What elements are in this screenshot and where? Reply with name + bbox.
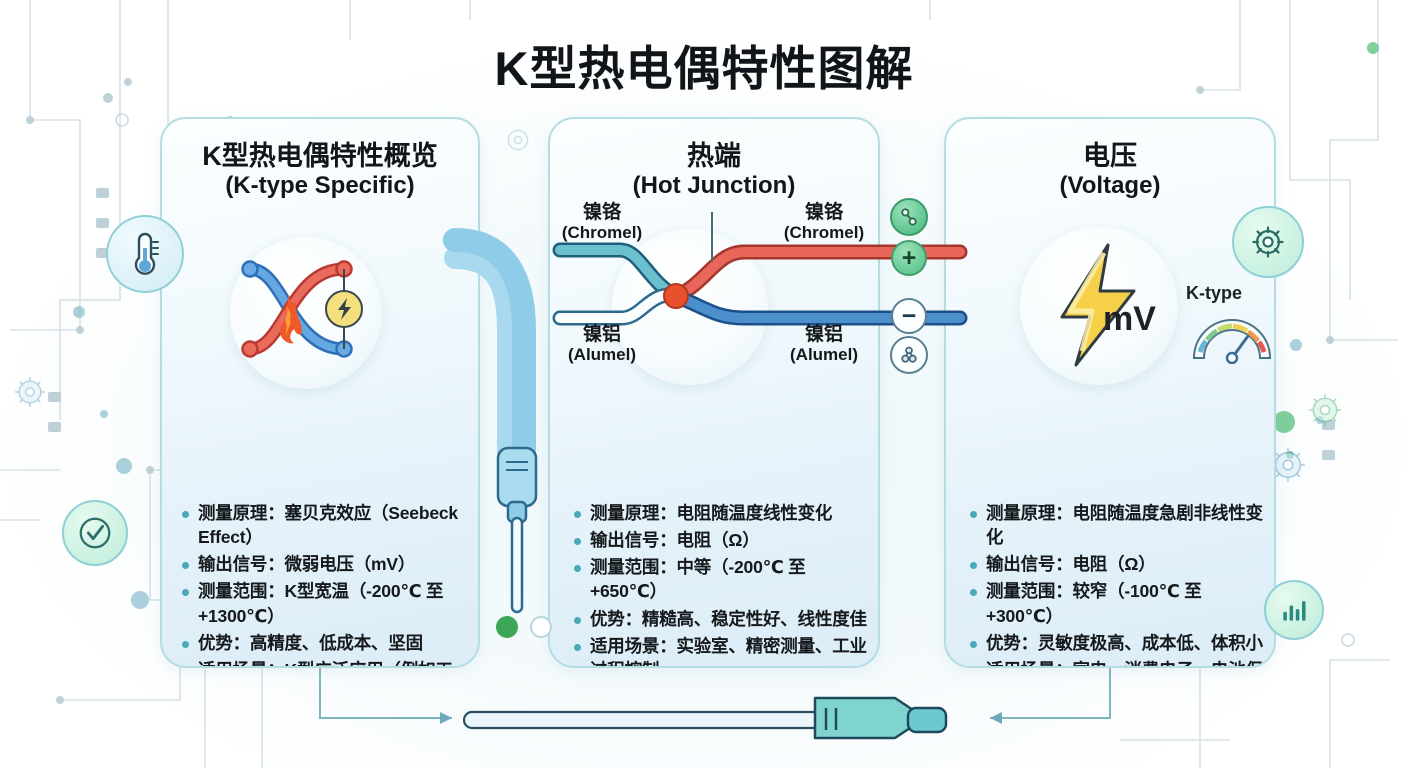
alumel-cn: 镍铝 [556, 325, 648, 346]
list-item: 测量原理：塞贝克效应（Seebeck Effect） [178, 501, 468, 549]
chromel-en: (Chromel) [776, 224, 872, 243]
positive-polarity-badge: + [891, 240, 927, 276]
card3-title-en: (Voltage) [946, 172, 1274, 201]
wire-label-alumel-left: 镍铝 (Alumel) [556, 325, 648, 365]
negative-polarity-badge: − [891, 298, 927, 334]
card3-bullet-list: 测量原理：电阻随温度急剧非线性变化 输出信号：电阻（Ω） 测量范围：较窄（-10… [966, 501, 1264, 668]
wire-label-chromel-left: 镍铬 (Chromel) [556, 203, 648, 243]
color-code-chips [496, 616, 560, 638]
infographic-root: K型热电偶特性图解 K型热电偶特性概览 (K-type Specific) [0, 0, 1408, 768]
chromel-cn: 镍铬 [776, 203, 872, 224]
card2-bullet-list: 测量原理：电阻随温度线性变化 输出信号：电阻（Ω） 测量范围：中等（-200℃ … [570, 501, 868, 668]
card2-title-cn: 热端 [550, 141, 878, 171]
list-item: 输出信号：电阻（Ω） [966, 552, 1264, 576]
bottom-probe-connector [320, 668, 1110, 738]
card-voltage[interactable]: 电压 (Voltage) 测量原理：电阻随温度急剧非线性变化 输出信号：电阻（Ω… [944, 117, 1276, 668]
card-hot-junction[interactable]: 热端 (Hot Junction) 测量原理：电阻随温度线性变化 输出信号：电阻… [548, 117, 880, 668]
alumel-en: (Alumel) [776, 346, 872, 365]
list-item: 输出信号：电阻（Ω） [570, 528, 868, 552]
chromel-en: (Chromel) [556, 224, 648, 243]
wire-label-chromel-right: 镍铬 (Chromel) [776, 203, 872, 243]
alumel-cn: 镍铝 [776, 325, 872, 346]
chromel-molecule-icon [890, 198, 928, 236]
list-item: 适用场景：实验室、精密测量、工业过程控制 [570, 634, 868, 668]
list-item: 测量范围：较窄（-100℃ 至 +300℃） [966, 579, 1264, 627]
card3-title-cn: 电压 [946, 141, 1274, 171]
card1-title-cn: K型热电偶特性概览 [162, 141, 478, 171]
bar-chart-icon [1264, 580, 1324, 640]
list-item: 输出信号：微弱电压（mV） [178, 552, 468, 576]
page-title: K型热电偶特性图解 [0, 30, 1408, 99]
card3-header: 电压 (Voltage) [946, 141, 1274, 201]
gear-icon [1232, 206, 1304, 278]
list-item: 测量原理：电阻随温度线性变化 [570, 501, 868, 525]
list-item: 测量范围：中等（-200℃ 至 +650℃） [570, 555, 868, 603]
k-type-gauge-icon [1186, 308, 1278, 364]
thermometer-icon [106, 215, 184, 293]
wire-label-alumel-right: 镍铝 (Alumel) [776, 325, 872, 365]
list-item: 测量原理：电阻随温度急剧非线性变化 [966, 501, 1264, 549]
k-type-gauge-label: K-type [1186, 283, 1242, 304]
voltage-bolt-icon [326, 291, 362, 327]
card-k-type-overview[interactable]: K型热电偶特性概览 (K-type Specific) [160, 117, 480, 668]
alumel-molecule-icon [890, 336, 928, 374]
card1-bullet-list: 测量原理：塞贝克效应（Seebeck Effect） 输出信号：微弱电压（mV）… [178, 501, 468, 668]
card2-header: 热端 (Hot Junction) [550, 141, 878, 201]
card2-title-en: (Hot Junction) [550, 172, 878, 201]
mv-unit-label: mV [1103, 300, 1156, 339]
list-item: 优势：高精度、低成本、坚固 [178, 631, 468, 655]
card1-title-en: (K-type Specific) [162, 172, 478, 201]
list-item: 优势：灵敏度极高、成本低、体积小 [966, 631, 1264, 655]
check-circle-icon [62, 500, 128, 566]
negative-color-chip [530, 616, 552, 638]
list-item: 适用场景：家电、消费电子、电池保护、医疗设备 [966, 658, 1264, 668]
positive-color-chip [496, 616, 518, 638]
thermocouple-loop-illustration [224, 229, 396, 397]
list-item: 测量范围：K型宽温（-200℃ 至 +1300℃） [178, 579, 468, 627]
list-item: 优势：精糙高、稳定性好、线性度佳 [570, 607, 868, 631]
card1-header: K型热电偶特性概览 (K-type Specific) [162, 141, 478, 201]
chromel-cn: 镍铬 [556, 203, 648, 224]
list-item: 适用场景：K型广泛应用（例如工业炉、汽电机） [178, 658, 468, 668]
alumel-en: (Alumel) [556, 346, 648, 365]
